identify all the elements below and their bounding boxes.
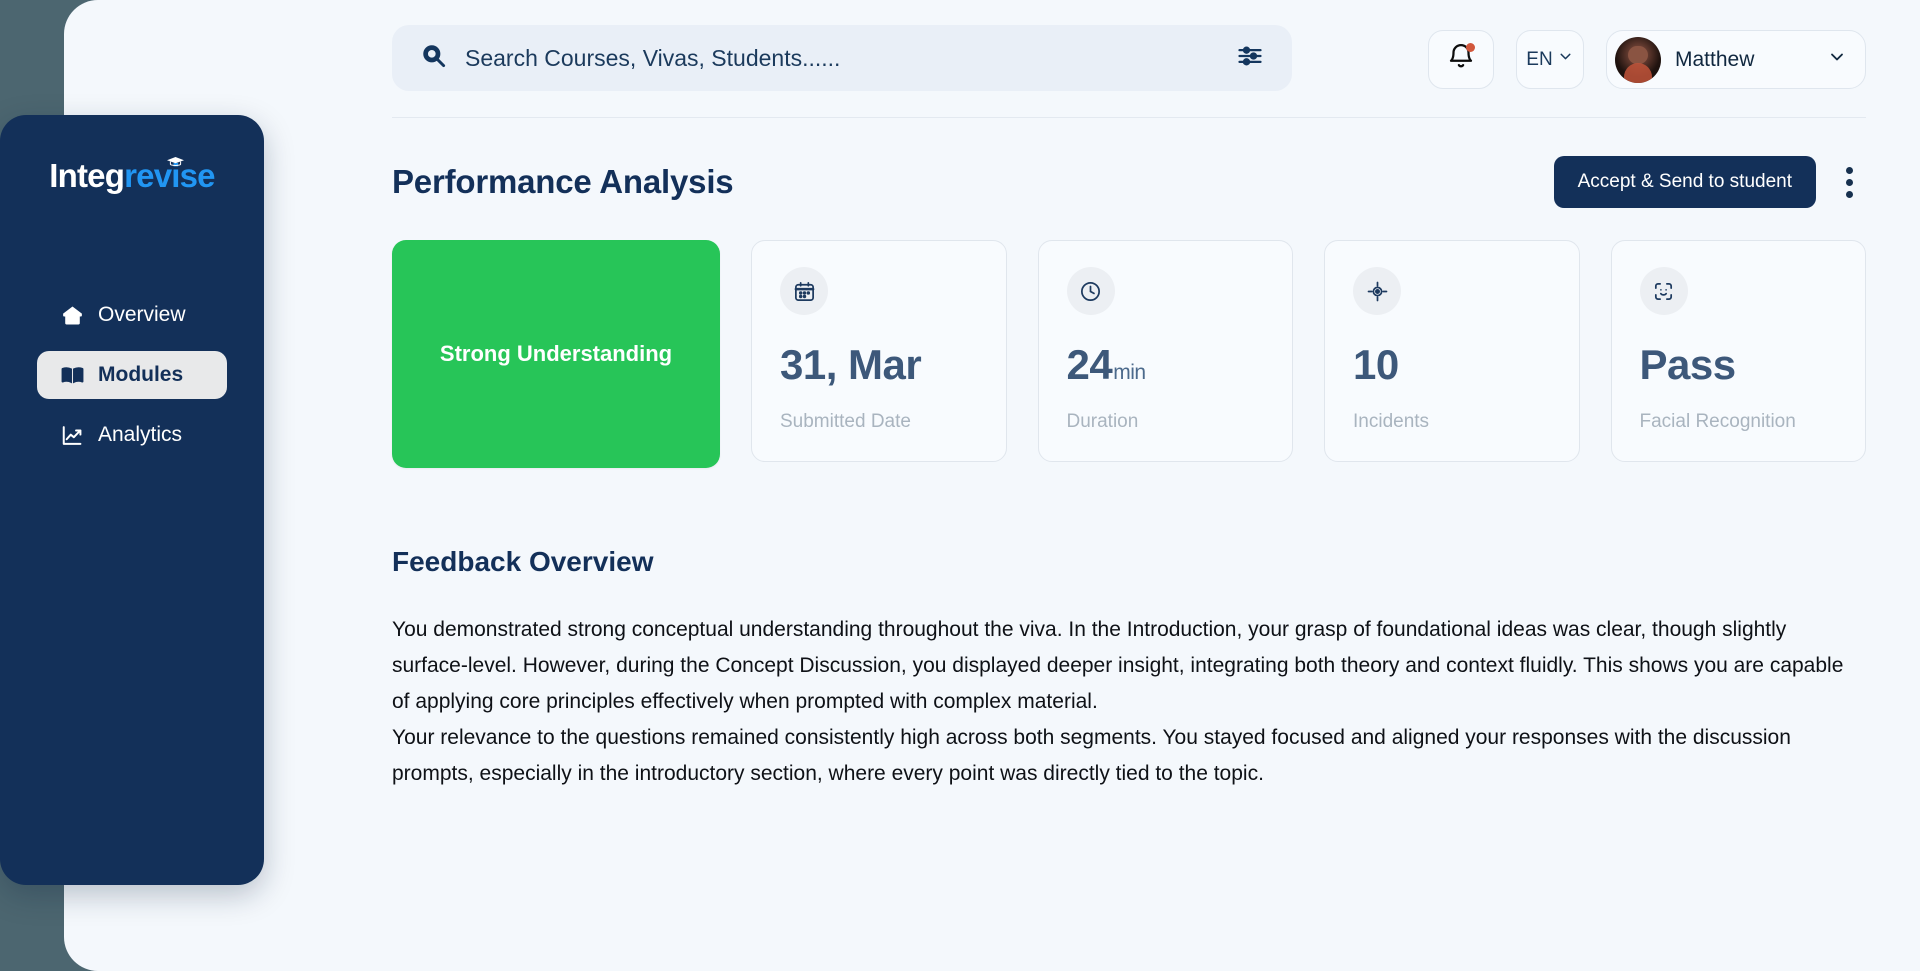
sidebar-item-label: Overview bbox=[98, 303, 186, 327]
sliders-icon[interactable] bbox=[1236, 42, 1264, 75]
stat-value: 31, Mar bbox=[780, 341, 978, 389]
language-label: EN bbox=[1526, 49, 1552, 71]
sidebar: Integrevise Overview bbox=[0, 115, 264, 885]
chevron-down-icon bbox=[1557, 48, 1574, 71]
sidebar-item-modules[interactable]: Modules bbox=[37, 351, 227, 399]
stat-unit: min bbox=[1113, 361, 1145, 385]
more-options-icon[interactable] bbox=[1832, 161, 1866, 203]
notification-badge bbox=[1466, 43, 1475, 52]
book-icon bbox=[59, 362, 85, 388]
main-content: Performance Analysis Accept & Send to st… bbox=[328, 118, 1920, 971]
calendar-icon bbox=[780, 267, 828, 315]
line-chart-icon bbox=[59, 422, 85, 448]
sidebar-item-label: Modules bbox=[98, 363, 183, 387]
search-bar[interactable] bbox=[392, 25, 1292, 91]
feedback-paragraph-2: Your relevance to the questions remained… bbox=[392, 720, 1866, 792]
sidebar-item-analytics[interactable]: Analytics bbox=[37, 411, 227, 459]
top-header: EN Matthew bbox=[328, 0, 1920, 118]
stat-label: Duration bbox=[1067, 411, 1265, 433]
stat-number: Pass bbox=[1640, 341, 1736, 389]
stat-value: Pass bbox=[1640, 341, 1838, 389]
avatar bbox=[1615, 37, 1661, 83]
feedback-paragraph-1: You demonstrated strong conceptual under… bbox=[392, 612, 1866, 720]
page-title-row: Performance Analysis Accept & Send to st… bbox=[392, 118, 1866, 208]
stat-number: 31, Mar bbox=[780, 341, 921, 389]
stat-card-facial-recognition: Pass Facial Recognition bbox=[1611, 240, 1867, 462]
sidebar-nav: Overview Modules bbox=[0, 291, 264, 459]
stat-number: 10 bbox=[1353, 341, 1399, 389]
sidebar-item-label: Analytics bbox=[98, 423, 182, 447]
home-icon bbox=[59, 302, 85, 328]
graduation-cap-icon bbox=[167, 157, 184, 166]
score-label: Strong Understanding bbox=[440, 341, 672, 367]
search-input[interactable] bbox=[465, 45, 1236, 72]
stat-value: 10 bbox=[1353, 341, 1551, 389]
feedback-body: You demonstrated strong conceptual under… bbox=[392, 612, 1866, 792]
language-selector[interactable]: EN bbox=[1516, 30, 1584, 89]
feedback-section: Feedback Overview You demonstrated stron… bbox=[392, 546, 1866, 792]
app-window: EN Matthew Performance Analysis Accept bbox=[64, 0, 1920, 971]
stat-label: Submitted Date bbox=[780, 411, 978, 433]
bell-icon bbox=[1446, 42, 1476, 77]
face-id-icon bbox=[1640, 267, 1688, 315]
score-card: Strong Understanding bbox=[392, 240, 720, 468]
chevron-down-icon bbox=[1827, 47, 1847, 72]
feedback-title: Feedback Overview bbox=[392, 546, 1866, 578]
stat-label: Incidents bbox=[1353, 411, 1551, 433]
accept-and-send-button[interactable]: Accept & Send to student bbox=[1554, 156, 1816, 208]
clock-icon bbox=[1067, 267, 1115, 315]
notifications-button[interactable] bbox=[1428, 30, 1494, 89]
stats-row: Strong Understanding 31, Mar Subm bbox=[392, 240, 1866, 468]
stat-card-duration: 24 min Duration bbox=[1038, 240, 1294, 462]
stat-card-incidents: 10 Incidents bbox=[1324, 240, 1580, 462]
stat-number: 24 bbox=[1067, 341, 1113, 389]
crosshair-icon bbox=[1353, 267, 1401, 315]
user-profile-button[interactable]: Matthew bbox=[1606, 30, 1866, 89]
page-title: Performance Analysis bbox=[392, 163, 733, 201]
user-name: Matthew bbox=[1675, 48, 1754, 72]
sidebar-item-overview[interactable]: Overview bbox=[37, 291, 227, 339]
search-icon bbox=[420, 42, 447, 74]
stat-card-submitted-date: 31, Mar Submitted Date bbox=[751, 240, 1007, 462]
stat-label: Facial Recognition bbox=[1640, 411, 1838, 433]
logo-text-primary: Integ bbox=[49, 157, 124, 194]
app-logo: Integrevise bbox=[0, 151, 264, 201]
stat-value: 24 min bbox=[1067, 341, 1265, 389]
